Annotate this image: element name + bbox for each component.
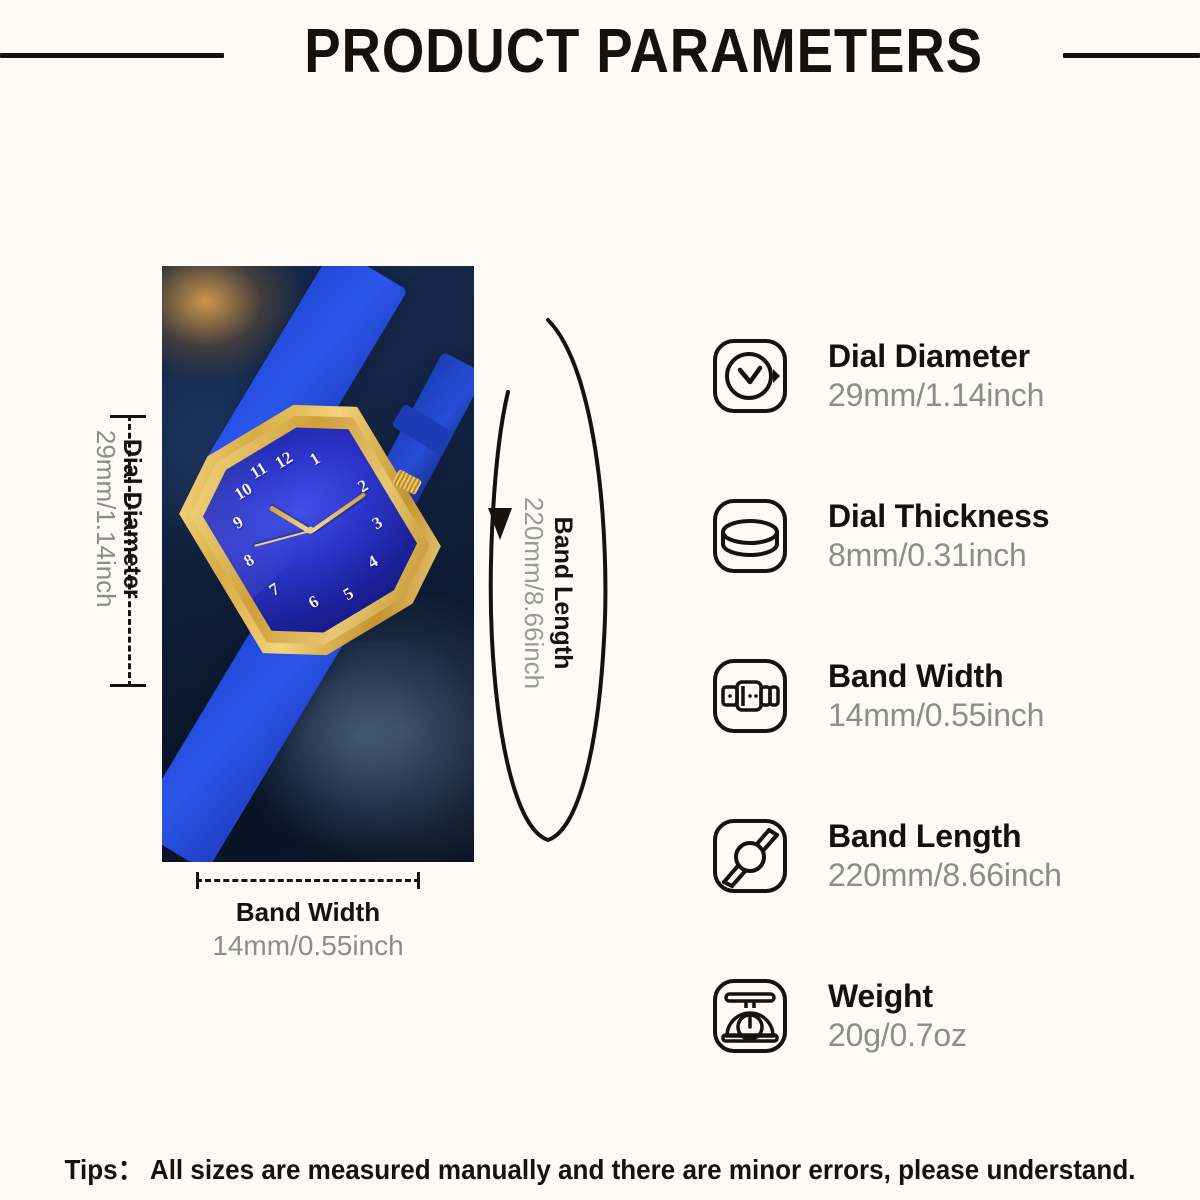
dimension-value: 220mm/8.66inch <box>520 358 549 828</box>
spec-value: 20g/0.7oz <box>828 1016 1180 1054</box>
spec-text: Band Width 14mm/0.55inch <box>828 658 1180 734</box>
dimension-label: Band Length <box>549 358 577 828</box>
dial-numeral: 3 <box>363 509 392 537</box>
title-rule-left <box>0 53 224 58</box>
spec-row-dial-diameter: Dial Diameter 29mm/1.14inch <box>710 296 1180 456</box>
dial-diameter-dimension: Dial Diameter 29mm/1.14inch <box>58 415 158 687</box>
band-strap-icon <box>710 816 790 896</box>
footer-tips: Tips： All sizes are measured manually an… <box>42 1148 1158 1188</box>
band-width-dimension: Band Width 14mm/0.55inch <box>196 872 420 962</box>
weight-scale-icon <box>710 976 790 1056</box>
dial-numeral: 5 <box>334 580 363 608</box>
dial-diameter-caption: Dial Diameter 29mm/1.14inch <box>91 383 145 655</box>
spec-value: 14mm/0.55inch <box>828 696 1180 734</box>
dimension-value: 29mm/1.14inch <box>91 383 118 655</box>
spec-text: Weight 20g/0.7oz <box>828 978 1180 1054</box>
product-photo: 1 2 3 4 5 6 7 8 9 10 11 12 <box>162 266 474 862</box>
spec-text: Dial Diameter 29mm/1.14inch <box>828 338 1180 414</box>
dimension-dash-line <box>196 879 420 882</box>
band-length-caption: Band Length 220mm/8.66inch <box>520 358 576 828</box>
spec-row-weight: Weight 20g/0.7oz <box>710 936 1180 1096</box>
dimension-cap-right <box>417 872 420 889</box>
page-title: PRODUCT PARAMETERS <box>304 21 983 89</box>
spec-label: Band Length <box>828 818 1180 856</box>
dial-numeral: 4 <box>358 548 387 576</box>
title-rule-right <box>1063 53 1200 58</box>
spec-text: Dial Thickness 8mm/0.31inch <box>828 498 1180 574</box>
dimension-cap-bottom <box>110 684 146 687</box>
dimension-label: Dial Diameter <box>119 383 145 655</box>
band-buckle-icon <box>710 656 790 736</box>
spec-label: Band Width <box>828 658 1180 696</box>
watch-dial-icon <box>710 336 790 416</box>
dimension-line-horizontal <box>196 872 420 888</box>
spec-row-dial-thickness: Dial Thickness 8mm/0.31inch <box>710 456 1180 616</box>
spec-value: 29mm/1.14inch <box>828 376 1180 414</box>
spec-value: 8mm/0.31inch <box>828 536 1180 574</box>
spec-label: Dial Thickness <box>828 498 1180 536</box>
spec-value: 220mm/8.66inch <box>828 856 1180 894</box>
dimension-value: 14mm/0.55inch <box>196 930 420 962</box>
dial-numeral: 6 <box>299 588 328 616</box>
dial-thickness-icon <box>710 496 790 576</box>
spec-row-band-width: Band Width 14mm/0.55inch <box>710 616 1180 776</box>
spec-row-band-length: Band Length 220mm/8.66inch <box>710 776 1180 936</box>
specification-list: Dial Diameter 29mm/1.14inch Dial Thickne… <box>710 296 1180 1096</box>
band-length-loop: Band Length 220mm/8.66inch <box>478 310 618 850</box>
page-header: PRODUCT PARAMETERS <box>0 0 1200 110</box>
dimension-label: Band Width <box>196 897 420 928</box>
spec-text: Band Length 220mm/8.66inch <box>828 818 1180 894</box>
spec-label: Weight <box>828 978 1180 1016</box>
spec-label: Dial Diameter <box>828 338 1180 376</box>
